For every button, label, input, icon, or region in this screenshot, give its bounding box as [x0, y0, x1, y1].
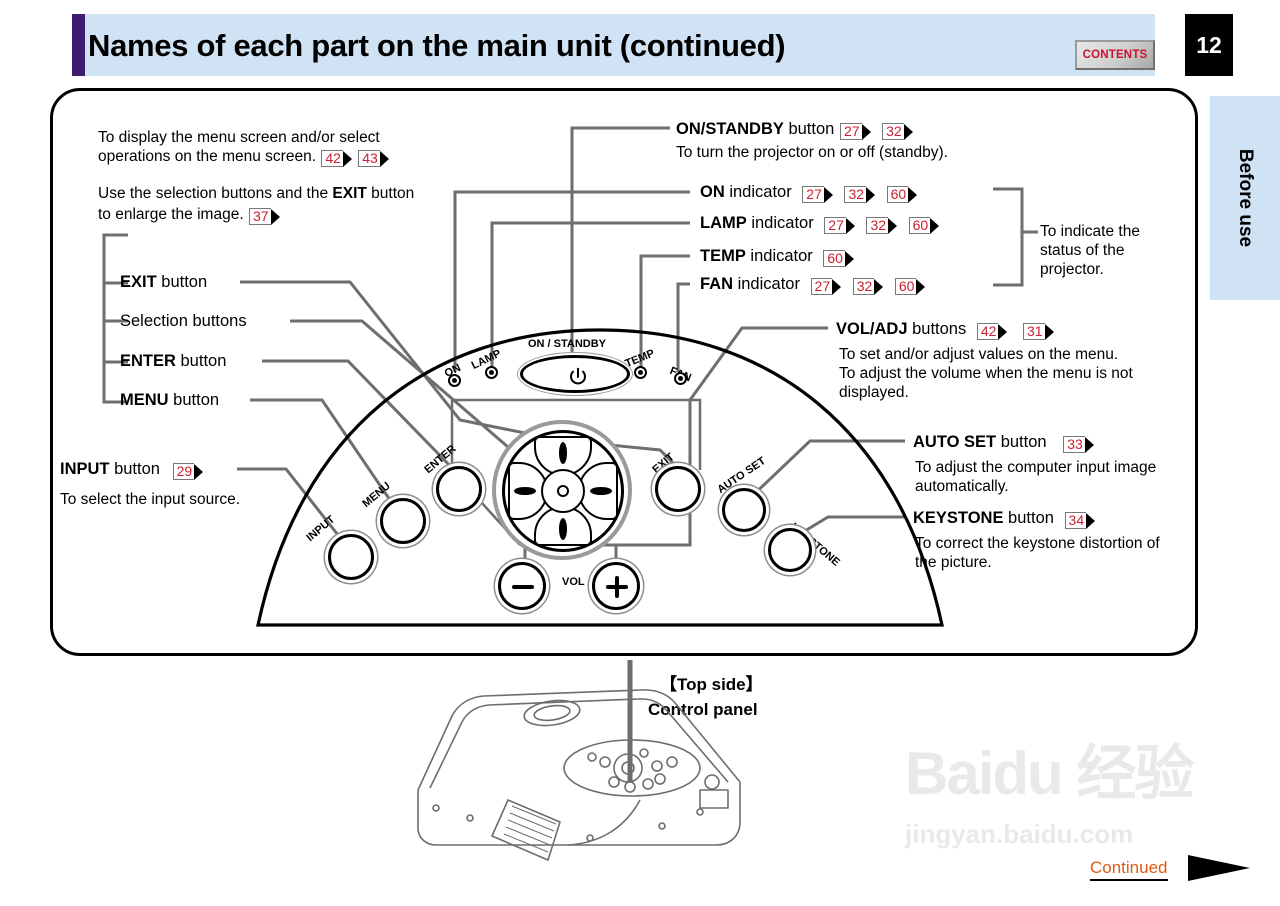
- callout-exit-bold: EXIT: [120, 273, 157, 291]
- exit-button[interactable]: [655, 466, 701, 512]
- callout-input-rest: button: [110, 460, 160, 478]
- page-ref-27-c[interactable]: 27: [824, 217, 855, 234]
- page-ref-60-a[interactable]: 60: [887, 186, 918, 203]
- selection-dpad[interactable]: [492, 420, 632, 560]
- minus-icon: [512, 585, 534, 589]
- page-ref-42[interactable]: 42: [321, 150, 352, 167]
- callout-onstandby-bold: ON/STANDBY: [676, 120, 784, 138]
- status-note-line1: To indicate the: [1040, 222, 1140, 241]
- page-ref-33[interactable]: 33: [1063, 436, 1094, 453]
- onstandby-label: ON / STANDBY: [528, 338, 606, 350]
- callout-input-button: INPUT button 29: [60, 459, 204, 480]
- enlarge-desc-line1: Use the selection buttons and the EXIT b…: [98, 184, 414, 203]
- callout-selection-text: Selection buttons: [120, 312, 247, 330]
- callout-temp-rest: indicator: [746, 247, 813, 265]
- enlarge-desc-line2: to enlarge the image. 37: [98, 205, 281, 225]
- callout-exit-button: EXIT button: [120, 272, 207, 292]
- callout-enter-bold: ENTER: [120, 352, 176, 370]
- status-note-line2: status of the: [1040, 241, 1124, 260]
- continued-arrow-icon: [1188, 855, 1250, 881]
- header-accent-bar: [72, 14, 85, 76]
- callout-keystone-rest: button: [1003, 509, 1053, 527]
- callout-on-rest: indicator: [725, 183, 792, 201]
- page-ref-43[interactable]: 43: [358, 150, 389, 167]
- page-ref-32-c[interactable]: 32: [866, 217, 897, 234]
- page-ref-60-b[interactable]: 60: [909, 217, 940, 234]
- figure-caption-line2: Control panel: [648, 700, 758, 720]
- dpad-up-arrow-icon: [559, 442, 567, 464]
- dpad-left-arrow-icon: [514, 487, 536, 495]
- callout-input-bold: INPUT: [60, 460, 110, 478]
- power-icon: [567, 366, 589, 388]
- callout-autoset-rest: button: [996, 433, 1046, 451]
- page-ref-32-d[interactable]: 32: [853, 278, 884, 295]
- enlarge-desc-a: Use the selection buttons and the: [98, 185, 332, 202]
- dpad-down-arrow-icon: [559, 518, 567, 540]
- dpad-right-arrow-icon: [590, 487, 612, 495]
- callout-menu-bold: MENU: [120, 391, 169, 409]
- callout-lamp-rest: indicator: [747, 214, 814, 232]
- page-ref-34[interactable]: 34: [1065, 512, 1096, 529]
- watermark-sub: jingyan.baidu.com: [905, 805, 1225, 863]
- manual-page: Names of each part on the main unit (con…: [0, 0, 1280, 906]
- status-note-line3: projector.: [1040, 260, 1104, 279]
- plus-icon-v: [615, 576, 619, 598]
- enlarge-desc-exit: EXIT: [332, 185, 366, 202]
- dpad-center-hub[interactable]: [541, 469, 585, 513]
- page-ref-37[interactable]: 37: [249, 208, 280, 225]
- callout-on-bold: ON: [700, 183, 725, 201]
- callout-fan-rest: indicator: [733, 275, 800, 293]
- contents-button[interactable]: CONTENTS: [1075, 40, 1155, 70]
- callout-selection-buttons: Selection buttons: [120, 311, 247, 331]
- callout-menu-button: MENU button: [120, 390, 219, 410]
- callout-temp-bold: TEMP: [700, 247, 746, 265]
- page-ref-27-d[interactable]: 27: [811, 278, 842, 295]
- keystone-button[interactable]: [768, 528, 812, 572]
- callout-lamp-indicator: LAMP indicator 27 32 60: [700, 213, 940, 234]
- page-ref-60-d[interactable]: 60: [895, 278, 926, 295]
- page-title: Names of each part on the main unit (con…: [88, 22, 1048, 70]
- continued-label: Continued: [1090, 858, 1168, 881]
- contents-button-label: CONTENTS: [1083, 49, 1148, 61]
- callout-fan-bold: FAN: [700, 275, 733, 293]
- fan-indicator-led: [674, 372, 687, 385]
- callout-fan-indicator: FAN indicator 27 32 60: [700, 274, 926, 295]
- page-ref-27-b[interactable]: 27: [802, 186, 833, 203]
- callout-exit-rest: button: [157, 273, 207, 291]
- enlarge-desc-c: button: [367, 185, 414, 202]
- callout-menu-rest: button: [169, 391, 219, 409]
- input-desc: To select the input source.: [60, 490, 240, 509]
- vol-adj-minus-button[interactable]: [498, 562, 546, 610]
- onstandby-button[interactable]: [520, 355, 630, 393]
- page-ref-42-b[interactable]: 42: [977, 323, 1008, 340]
- enter-button[interactable]: [436, 466, 482, 512]
- on-indicator-led: [448, 374, 461, 387]
- page-ref-27-a[interactable]: 27: [840, 123, 871, 140]
- control-panel: ON LAMP TEMP FAN ON / STANDBY INPUT MENU…: [270, 300, 930, 620]
- page-ref-60-c[interactable]: 60: [823, 250, 854, 267]
- page-ref-29[interactable]: 29: [173, 463, 204, 480]
- callout-onstandby-button: ON/STANDBY button 27 32: [676, 119, 914, 140]
- callout-keystone-button: KEYSTONE button 34: [913, 508, 1096, 529]
- vol-adj-plus-button[interactable]: [592, 562, 640, 610]
- watermark: Baidu 经验 jingyan.baidu.com: [905, 745, 1225, 855]
- menu-button[interactable]: [380, 498, 426, 544]
- callout-autoset-button: AUTO SET button 33: [913, 432, 1095, 453]
- watermark-main: Baidu 经验: [905, 740, 1192, 807]
- callout-enter-rest: button: [176, 352, 226, 370]
- lamp-indicator-led: [485, 366, 498, 379]
- input-button[interactable]: [328, 534, 374, 580]
- temp-indicator-led: [634, 366, 647, 379]
- callout-onstandby-rest: button: [784, 120, 834, 138]
- auto-set-button[interactable]: [722, 488, 766, 532]
- callout-lamp-bold: LAMP: [700, 214, 747, 232]
- page-ref-31[interactable]: 31: [1023, 323, 1054, 340]
- enlarge-desc-line2-text: to enlarge the image.: [98, 206, 244, 223]
- menu-desc-line2-text: operations on the menu screen.: [98, 148, 316, 165]
- callout-enter-button: ENTER button: [120, 351, 226, 371]
- menu-desc-line2: operations on the menu screen. 42 43: [98, 147, 390, 167]
- figure-caption-line1: 【Top side】: [660, 670, 763, 695]
- section-tab-before-use[interactable]: Before use: [1210, 96, 1280, 300]
- callout-temp-indicator: TEMP indicator 60: [700, 246, 855, 267]
- onstandby-desc: To turn the projector on or off (standby…: [676, 143, 948, 162]
- panel-label-input: INPUT: [304, 514, 337, 544]
- keystone-desc-line1: To correct the keystone distortion of: [915, 534, 1160, 553]
- page-ref-32-a[interactable]: 32: [882, 123, 913, 140]
- page-number: 12: [1185, 14, 1233, 76]
- autoset-desc-line1: To adjust the computer input image: [915, 458, 1156, 477]
- page-ref-32-b[interactable]: 32: [844, 186, 875, 203]
- menu-desc-line1: To display the menu screen and/or select: [98, 128, 380, 147]
- callout-on-indicator: ON indicator 27 32 60: [700, 182, 918, 203]
- section-tab-label: Before use: [1234, 149, 1256, 247]
